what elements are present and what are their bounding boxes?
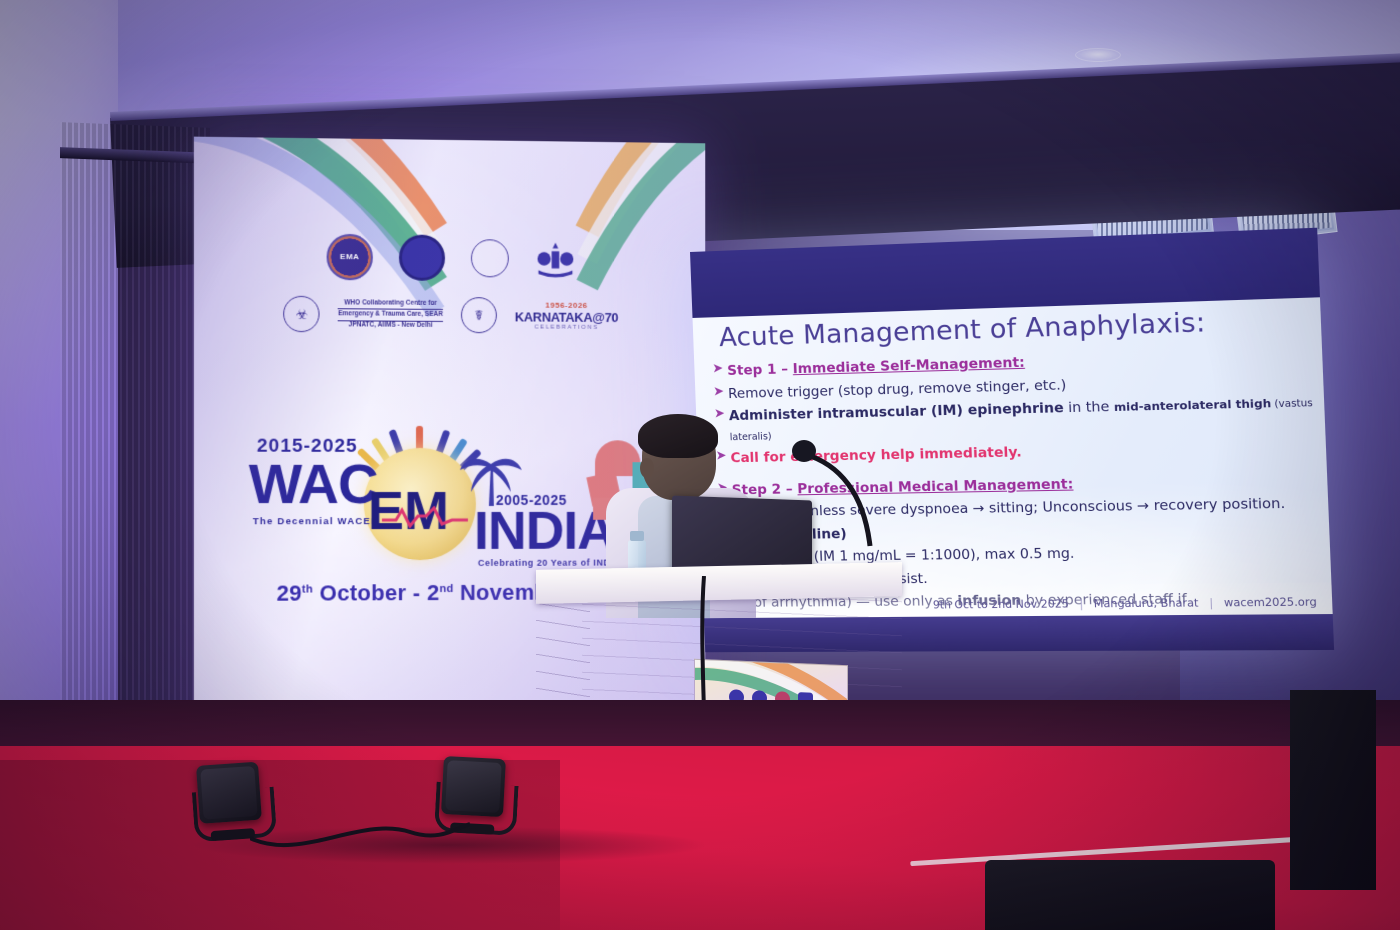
presenter-hair <box>638 414 718 458</box>
bullet-arrow-icon: ➤ <box>712 361 723 376</box>
footer-separator: | <box>1079 598 1083 610</box>
floor-loudspeaker <box>985 860 1275 930</box>
bullet-segment: Administer intramuscular (IM) epinephrin… <box>729 400 1064 424</box>
bullet-segment: mid-anterolateral thigh <box>1114 397 1272 414</box>
slide-title: Acute Management of Anaphylaxis: <box>719 307 1207 353</box>
conference-hall-photo: EMA ☣ WHO Collaborating Centre for <box>0 0 1400 930</box>
footer-dates: 9th Oct to 2nd Nov 2025 <box>933 598 1069 611</box>
bullet-arrow-icon: ➤ <box>713 384 724 399</box>
bullet-segment: Remove trigger (stop drug, remove stinge… <box>728 376 1067 401</box>
bullet-segment: in the <box>1063 399 1114 417</box>
ceiling-downlight <box>1075 48 1121 62</box>
presenter-ear <box>640 458 654 478</box>
stage-base-shadow-band <box>0 700 1400 746</box>
footer-website: wacem2025.org <box>1224 596 1317 609</box>
bottle-cap <box>630 531 644 541</box>
stage-light-cable <box>250 798 470 858</box>
footer-location: Mangaluru, Bharat <box>1094 597 1199 610</box>
bullet-segment: Step 1 – <box>727 361 793 379</box>
bullet-segment: Immediate Self-Management: <box>792 354 1025 377</box>
microphone-head-icon <box>792 440 816 462</box>
footer-separator: | <box>1209 597 1213 610</box>
side-loudspeaker <box>1290 690 1376 890</box>
podium-top <box>536 562 902 604</box>
